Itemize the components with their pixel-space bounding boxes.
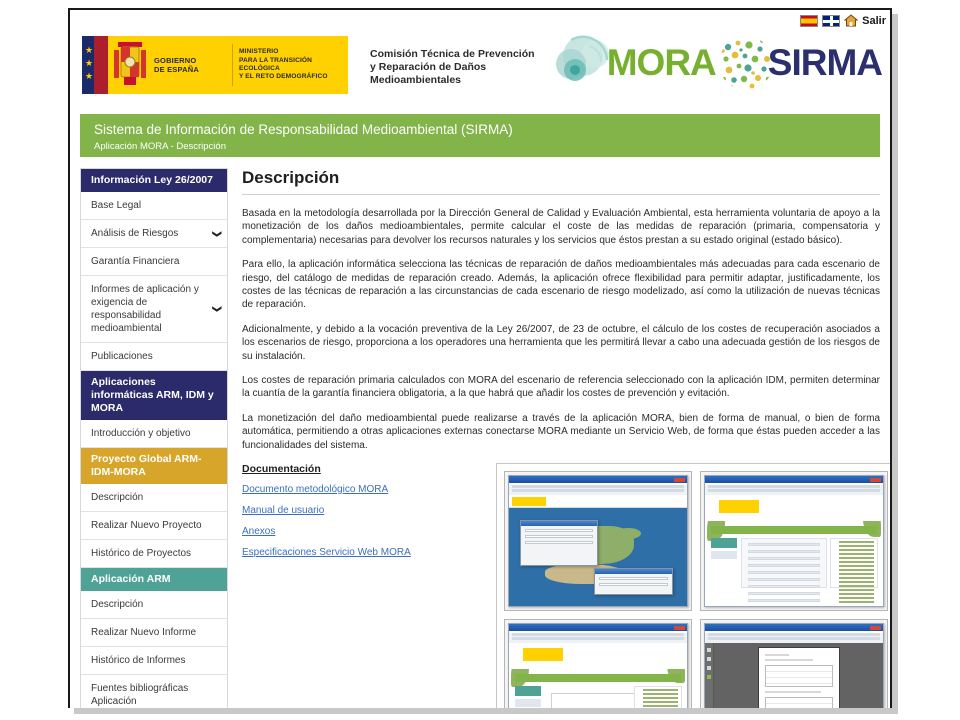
thumb-toolbar [705, 633, 883, 644]
thumb-titlebar [705, 624, 883, 631]
page-title: Descripción [242, 168, 880, 195]
flag-strip-icon: ★★★ [82, 36, 108, 94]
sidebar-item-label: Análisis de Riesgos [91, 228, 178, 239]
sidebar-item-label: Histórico de Informes [91, 655, 185, 666]
documentation-link[interactable]: Manual de usuario [242, 505, 474, 516]
sidebar-item-base-legal[interactable]: Base Legal [81, 192, 227, 220]
gobierno-label: GOBIERNO DE ESPAÑA [152, 56, 226, 74]
thumb-titlebar [705, 476, 883, 483]
thumb-window [508, 623, 688, 708]
thumb-toolbar [509, 485, 687, 496]
comision-title: Comisión Técnica de Prevención y Reparac… [370, 48, 535, 87]
sidebar-item-historico-de-proyectos[interactable]: Histórico de Proyectos [81, 540, 227, 568]
screenshot-chart-results[interactable] [504, 619, 692, 708]
description-paragraph: Basada en la metodología desarrollada po… [242, 207, 880, 247]
uk-flag-icon[interactable] [822, 15, 840, 27]
banner-title: Sistema de Información de Responsabilida… [94, 122, 868, 138]
documentation-link[interactable]: Anexos [242, 526, 474, 537]
banner-subtitle: Aplicación MORA - Descripción [94, 140, 868, 153]
sidebar-item-label: Descripción [91, 599, 143, 610]
description-paragraphs: Basada en la metodología desarrollada po… [242, 207, 880, 452]
documentation-link[interactable]: Especificaciones Servicio Web MORA [242, 547, 474, 558]
description-paragraph: Adicionalmente, y debido a la vocación p… [242, 323, 880, 363]
map-dialog-lower [594, 568, 672, 595]
stars-icon: ★★★ [85, 44, 93, 83]
thumb-toolbar [705, 485, 883, 496]
sidebar-group-header: Información Ley 26/2007 [81, 169, 227, 192]
thumb-body [705, 495, 883, 606]
screenshot-pdf-report[interactable] [700, 619, 888, 708]
description-paragraph: La monetización del daño medioambiental … [242, 412, 880, 452]
sidebar-nav: Información Ley 26/2007Base LegalAnálisi… [80, 168, 228, 708]
sidebar-item-realizar-nuevo-proyecto[interactable]: Realizar Nuevo Proyecto [81, 512, 227, 540]
pdf-thumbnail-rail [705, 643, 714, 708]
description-paragraph: Para ello, la aplicación informática sel… [242, 258, 880, 312]
spanish-flag-icon[interactable] [800, 15, 818, 27]
sidebar-item-label: Introducción y objetivo [91, 428, 191, 439]
logout-link[interactable]: Salir [862, 15, 886, 27]
thumb-body [509, 643, 687, 708]
gobierno-de-espana-logo: ★★★ GOBIERNO DE ES [82, 36, 348, 94]
chevron-down-icon[interactable]: ❯ [213, 305, 222, 313]
logo-divider [232, 44, 233, 86]
taxonomy-tree [634, 686, 682, 708]
screenshot-map-viewer[interactable] [504, 471, 692, 611]
sidebar-item-label: Descripción [91, 492, 143, 503]
home-icon[interactable] [844, 14, 858, 27]
thumb-window [704, 623, 884, 708]
sidebar-group-header: Proyecto Global ARM-IDM-MORA [81, 448, 227, 484]
screenshot-gallery [496, 463, 892, 708]
thumb-window [508, 475, 688, 607]
screenshot-form-page[interactable] [700, 471, 888, 611]
documentation-heading: Documentación [242, 463, 474, 475]
ministerio-label: MINISTERIO PARA LA TRANSICIÓN ECOLÓGICA … [239, 48, 348, 82]
sidebar-item-label: Fuentes bibliográficas Aplicación [91, 683, 188, 707]
sidebar-item-label: Histórico de Proyectos [91, 548, 191, 559]
mora-swirl-icon [555, 34, 617, 92]
taxonomy-tree [830, 538, 878, 588]
sidebar-item-introduccion-y-objetivo[interactable]: Introducción y objetivo [81, 420, 227, 448]
sidebar-item-label: Realizar Nuevo Proyecto [91, 520, 202, 531]
sidebar-item-descripcion[interactable]: Descripción [81, 591, 227, 619]
sidebar-item-analisis-de-riesgos[interactable]: Análisis de Riesgos❯ [81, 220, 227, 248]
thumb-window [704, 475, 884, 607]
pdf-page [758, 647, 840, 708]
sidebar-item-label: Base Legal [91, 200, 141, 211]
map-header-strip [509, 495, 687, 508]
form-panel [741, 538, 827, 588]
brand-logos: MORA [555, 28, 882, 98]
site-header: ★★★ GOBIERNO DE ES [70, 10, 890, 114]
sidebar-item-label: Garantía Financiera [91, 256, 179, 267]
description-paragraph: Los costes de reparación primaria calcul… [242, 374, 880, 401]
sidebar-item-publicaciones[interactable]: Publicaciones [81, 343, 227, 371]
app-screen: Salir ★★★ [0, 0, 960, 720]
sidebar-item-descripcion[interactable]: Descripción [81, 484, 227, 512]
sidebar-item-label: Informes de aplicación y exigencia de re… [91, 284, 199, 334]
main-content: Descripción Basada en la metodología des… [228, 168, 880, 708]
thumb-toolbar [509, 633, 687, 644]
map-dialog-upper [520, 520, 598, 567]
mora-wordmark: MORA [607, 43, 716, 83]
page-frame: Salir ★★★ [68, 8, 892, 708]
sidebar-group-header: Aplicación ARM [81, 568, 227, 591]
thumb-body [705, 643, 883, 708]
page-banner: Sistema de Información de Responsabilida… [80, 114, 880, 157]
thumb-titlebar [509, 476, 687, 483]
documentation-link[interactable]: Documento metodológico MORA [242, 484, 474, 495]
sidebar-item-realizar-nuevo-informe[interactable]: Realizar Nuevo Informe [81, 619, 227, 647]
lower-area: Documentación Documento metodológico MOR… [242, 463, 880, 708]
documentation-section: Documentación Documento metodológico MOR… [242, 463, 474, 568]
sirma-dots-icon [718, 35, 774, 91]
sirma-wordmark: SIRMA [768, 43, 882, 83]
sidebar-item-fuentes-bibliograficas-aplicacion[interactable]: Fuentes bibliográficas Aplicación [81, 675, 227, 708]
thumb-titlebar [509, 624, 687, 631]
thumb-body [509, 495, 687, 606]
chevron-down-icon[interactable]: ❯ [213, 230, 222, 238]
sidebar-item-label: Publicaciones [91, 351, 153, 362]
sidebar-item-historico-de-informes[interactable]: Histórico de Informes [81, 647, 227, 675]
utility-bar: Salir [800, 14, 886, 27]
body-wrapper: Información Ley 26/2007Base LegalAnálisi… [80, 168, 880, 708]
coat-of-arms-icon [110, 36, 152, 94]
sidebar-group-header: Aplicaciones informáticas ARM, IDM y MOR… [81, 371, 227, 420]
sidebar-item-garantia-financiera[interactable]: Garantía Financiera [81, 248, 227, 276]
sidebar-item-informes-de-aplicacion-y-exigencia[interactable]: Informes de aplicación y exigencia de re… [81, 276, 227, 343]
documentation-links: Documento metodológico MORAManual de usu… [242, 484, 474, 558]
sidebar-item-label: Realizar Nuevo Informe [91, 627, 196, 638]
